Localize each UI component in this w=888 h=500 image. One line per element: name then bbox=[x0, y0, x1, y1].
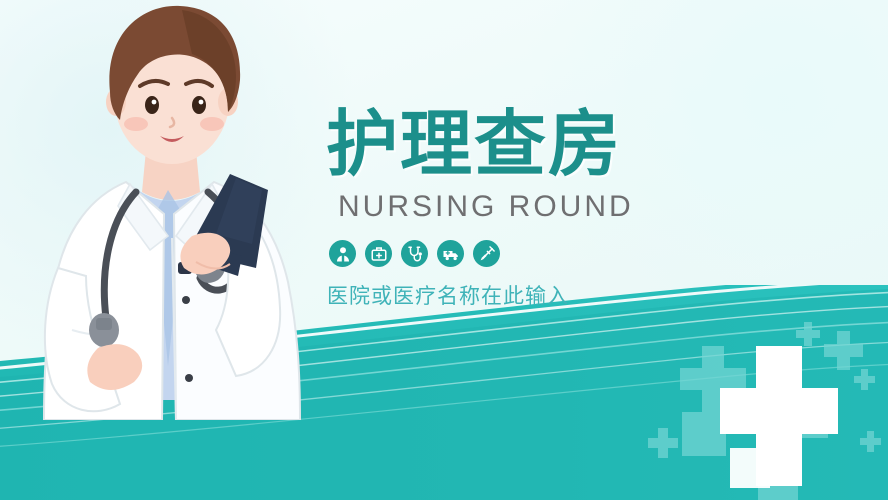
nurse-illustration bbox=[0, 0, 330, 420]
doctor-icon[interactable] bbox=[329, 240, 356, 267]
organization-name-placeholder[interactable]: 医院或医疗名称在此输入 bbox=[327, 283, 746, 309]
title-block: 护理查房 NURSING ROUND bbox=[326, 104, 746, 309]
page-title: 护理查房 bbox=[326, 104, 746, 184]
stethoscope-icon[interactable] bbox=[401, 240, 428, 267]
crosses-white bbox=[720, 346, 838, 488]
medical-kit-icon[interactable] bbox=[365, 240, 392, 267]
page-subtitle: NURSING ROUND bbox=[338, 190, 746, 224]
cross-cluster-decoration bbox=[638, 320, 888, 500]
syringe-icon[interactable] bbox=[473, 240, 500, 267]
medical-icon-row bbox=[329, 240, 746, 267]
ambulance-icon[interactable] bbox=[437, 240, 464, 267]
slide-canvas: 护理查房 NURSING ROUND bbox=[0, 0, 888, 500]
